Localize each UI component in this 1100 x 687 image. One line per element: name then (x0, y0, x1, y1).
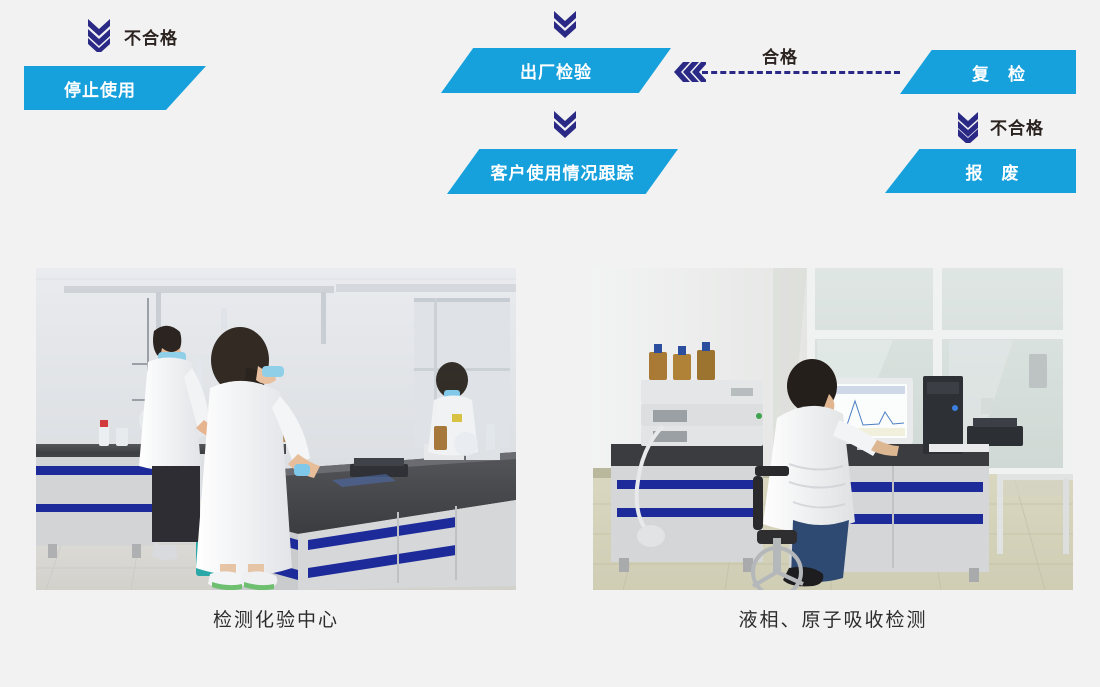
chevron-double-down-icon (956, 111, 980, 143)
node-factory-inspection[interactable]: 出厂检验 (441, 48, 671, 93)
caption-testing-center: 检测化验中心 (36, 605, 516, 632)
node-stop-use[interactable]: 停止使用 (24, 66, 206, 110)
photo-testing-center (36, 268, 516, 590)
chevron-double-down-icon (552, 10, 578, 40)
hplc-instrument (641, 380, 763, 446)
node-factory-inspection-label: 出厂检验 (441, 58, 671, 83)
label-fail-left: 不合格 (124, 24, 178, 49)
node-re-inspection-label: 复 检 (900, 60, 1076, 85)
node-stop-use-label: 停止使用 (24, 76, 206, 101)
photo-testing-center-image (36, 268, 516, 590)
page-root: 不合格 停止使用 出厂检验 (0, 0, 1100, 687)
chevron-triple-left-icon (672, 60, 706, 84)
chevron-double-down-icon (552, 110, 578, 140)
caption-hplc-aas: 液相、原子吸收检测 (593, 605, 1073, 632)
node-customer-tracking[interactable]: 客户使用情况跟踪 (447, 149, 678, 194)
photo-hplc-aas-image (593, 268, 1073, 590)
node-re-inspection[interactable]: 复 检 (900, 50, 1076, 94)
photo-hplc-aas (593, 268, 1073, 590)
node-customer-tracking-label: 客户使用情况跟踪 (447, 159, 678, 184)
chevron-double-down-icon (86, 18, 112, 52)
reagent-bottles (649, 342, 715, 380)
label-pass: 合格 (762, 43, 798, 68)
connector-reinspection-to-factory (702, 71, 900, 74)
label-fail-right: 不合格 (990, 114, 1044, 139)
process-flow-diagram: 不合格 停止使用 出厂检验 (0, 0, 1100, 235)
node-scrap[interactable]: 报 废 (885, 149, 1076, 193)
node-scrap-label: 报 废 (885, 159, 1076, 184)
